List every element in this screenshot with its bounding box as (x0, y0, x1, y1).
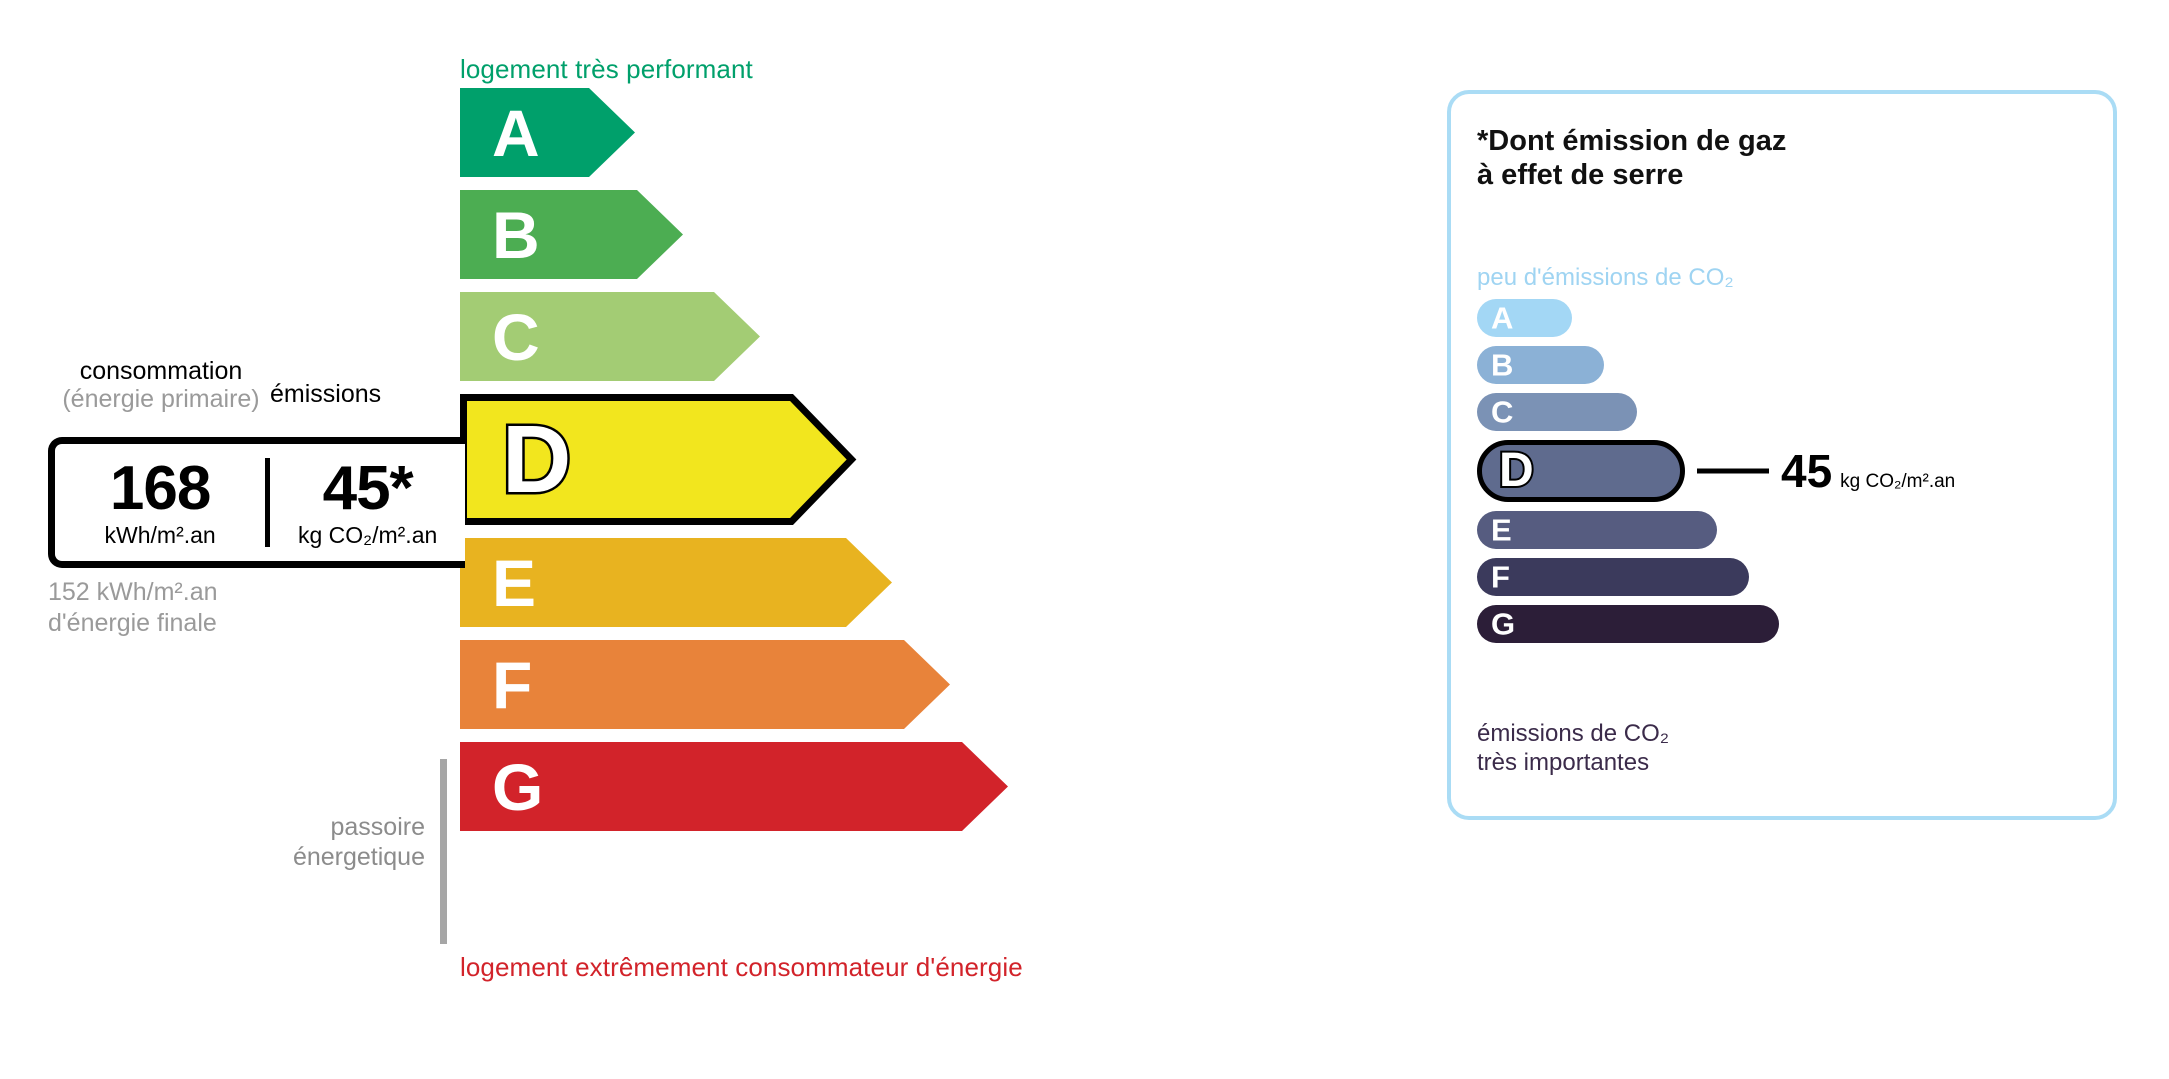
co2-bar-shape-e: E (1477, 511, 1717, 549)
co2-bar-letter-a: A (1491, 303, 1513, 334)
co2-bar-letter-e: E (1491, 515, 1512, 546)
emissions-value-cell: 45* kg CO₂/m².an (270, 444, 465, 561)
co2-bar-g: G (1477, 605, 2087, 643)
energy-arrow-scale: ABCDEFG (460, 88, 1280, 831)
passoire-label-line1: passoire (200, 812, 425, 842)
co2-bar-d: D45kg CO₂/m².an (1477, 440, 2087, 502)
co2-panel-title: *Dont émission de gaz à effet de serre (1477, 124, 1786, 192)
co2-bar-shape-b: B (1477, 346, 1604, 384)
emissions-unit: kg CO₂/m².an (298, 522, 437, 549)
co2-callout-leader-line (1697, 469, 1769, 474)
co2-bar-letter-c: C (1491, 397, 1513, 428)
co2-callout-value: 45kg CO₂/m².an (1781, 448, 1955, 494)
energy-bar-c: C (460, 292, 1280, 381)
arrow-shape-g: G (460, 742, 1280, 831)
consumption-label: consommation (énergie primaire) (46, 357, 276, 413)
passoire-label-line2: énergetique (200, 842, 425, 872)
co2-bar-shape-g: G (1477, 605, 1779, 643)
consumption-label-main: consommation (80, 357, 243, 385)
emissions-label: émissions (270, 380, 381, 409)
co2-bar-b: B (1477, 346, 2087, 384)
energy-bar-letter-b: B (492, 202, 540, 268)
final-energy-label: 152 kWh/m².an d'énergie finale (48, 577, 218, 638)
co2-bar-a: A (1477, 299, 2087, 337)
arrow-shape-d: D (460, 394, 1280, 525)
co2-bar-f: F (1477, 558, 2087, 596)
energy-bar-f: F (460, 640, 1280, 729)
energy-performance-panel: logement très performant ABCDEFG logemen… (0, 0, 1400, 1079)
co2-bar-letter-g: G (1491, 609, 1515, 640)
co2-title-line1: *Dont émission de gaz (1477, 124, 1786, 158)
co2-bar-letter-f: F (1491, 562, 1510, 593)
co2-bar-e: E (1477, 511, 2087, 549)
co2-bar-shape-f: F (1477, 558, 1749, 596)
co2-bar-c: C (1477, 393, 2087, 431)
co2-bar-shape-d: D (1477, 440, 1685, 502)
energy-bar-d: D (460, 394, 1280, 525)
energy-bar-letter-a: A (492, 100, 540, 166)
co2-scale-top-caption: peu d'émissions de CO₂ (1477, 264, 1734, 292)
passoire-bracket (440, 759, 447, 944)
energy-bar-g: G (460, 742, 1280, 831)
co2-title-line2: à effet de serre (1477, 158, 1786, 192)
arrow-shape-f: F (460, 640, 1280, 729)
energy-bar-letter-e: E (492, 550, 536, 616)
co2-bar-letter-b: B (1491, 350, 1513, 381)
final-energy-caption: d'énergie finale (48, 608, 218, 639)
co2-emissions-panel: *Dont émission de gaz à effet de serre p… (1447, 90, 2117, 820)
energy-scale-bottom-caption: logement extrêmement consommateur d'éner… (460, 952, 1023, 983)
primary-consumption-unit: kWh/m².an (105, 522, 216, 549)
co2-scale-bottom-caption: émissions de CO₂ très importantes (1477, 719, 1669, 778)
co2-bar-shape-c: C (1477, 393, 1637, 431)
co2-bar-shape-a: A (1477, 299, 1572, 337)
arrow-shape-e: E (460, 538, 1280, 627)
co2-bar-letter-d: D (1499, 447, 1534, 495)
arrow-shape-c: C (460, 292, 1280, 381)
co2-bar-scale: ABCD45kg CO₂/m².anEFG (1477, 299, 2087, 652)
energy-bar-letter-g: G (492, 754, 543, 820)
energy-scale-top-caption: logement très performant (460, 54, 753, 85)
energy-bar-letter-c: C (492, 304, 540, 370)
final-energy-value: 152 kWh/m².an (48, 577, 218, 608)
energy-bar-e: E (460, 538, 1280, 627)
arrow-shape-b: B (460, 190, 1280, 279)
co2-bottom-caption-line2: très importantes (1477, 748, 1669, 777)
co2-callout-unit: kg CO₂/m².an (1840, 471, 1955, 492)
energy-bar-letter-d: D (502, 412, 571, 508)
emissions-value: 45* (323, 460, 413, 519)
co2-bottom-caption-line1: émissions de CO₂ (1477, 719, 1669, 748)
passoire-label: passoire énergetique (200, 812, 425, 872)
consumption-label-sub: (énergie primaire) (46, 385, 276, 413)
arrow-shape-a: A (460, 88, 1280, 177)
primary-consumption-value: 168 (110, 460, 210, 519)
energy-bar-b: B (460, 190, 1280, 279)
energy-bar-letter-f: F (492, 652, 532, 718)
energy-bar-a: A (460, 88, 1280, 177)
consumption-value-box: 168 kWh/m².an 45* kg CO₂/m².an (48, 437, 465, 568)
primary-consumption-cell: 168 kWh/m².an (55, 444, 265, 561)
